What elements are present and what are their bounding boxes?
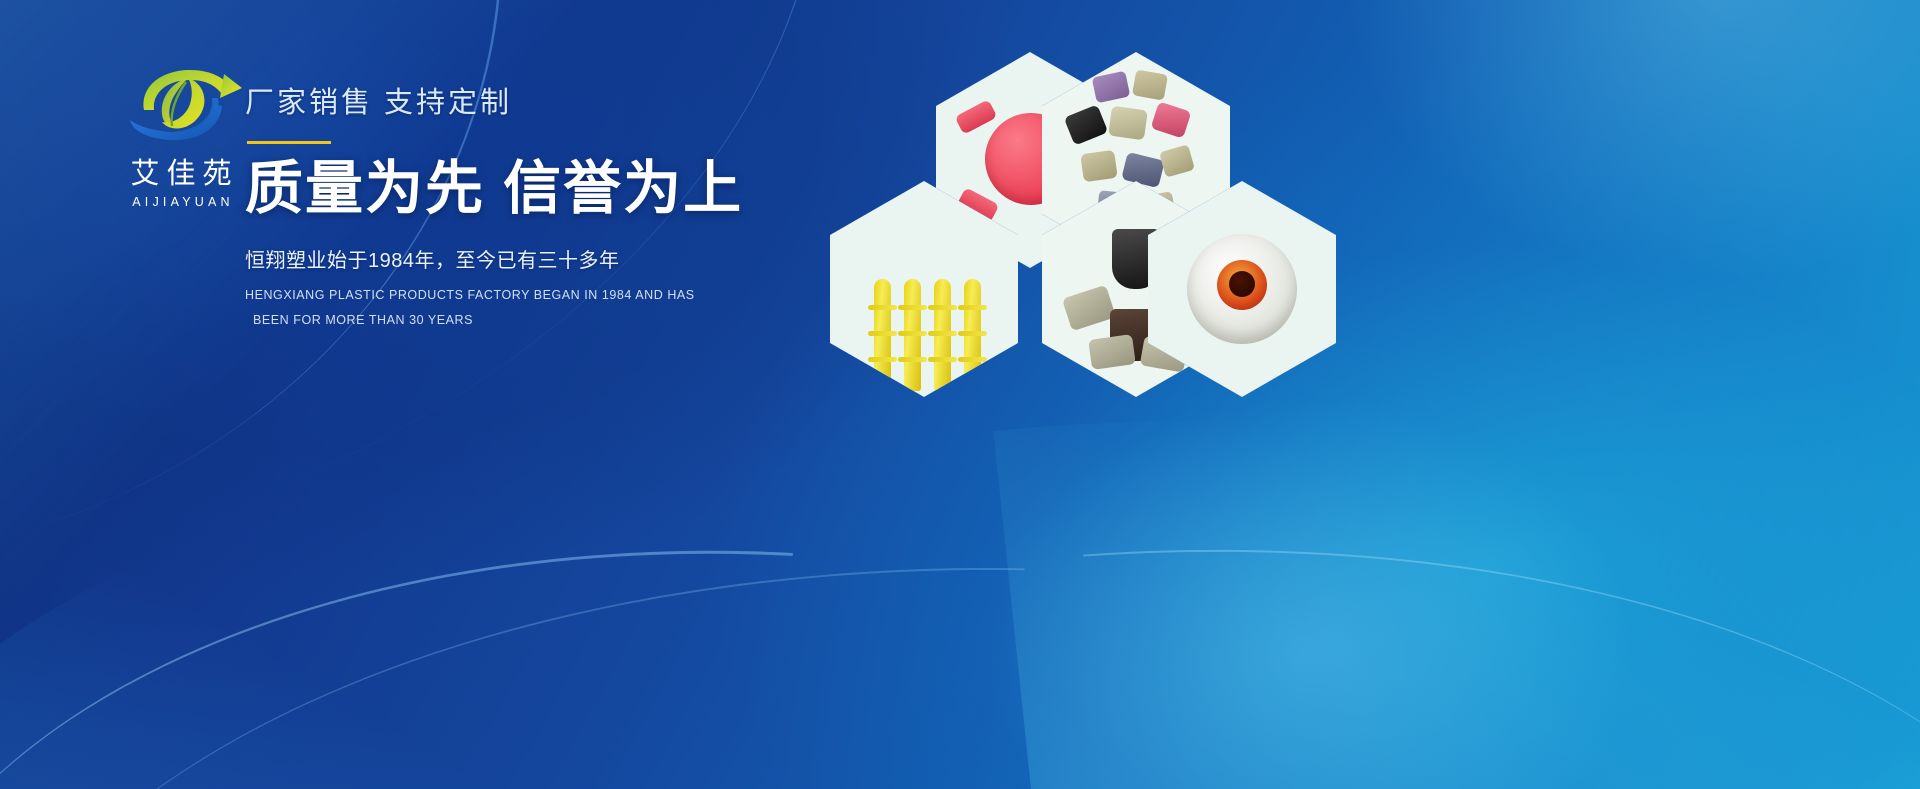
buckle-item — [1092, 71, 1131, 104]
buckle-item — [1151, 101, 1192, 138]
buckle-item — [1132, 69, 1168, 100]
gold-divider — [247, 141, 331, 144]
promotional-banner: 艾佳苑 AIJIAYUAN 厂家销售 支持定制 质量为先 信誉为上 恒翔塑业始于… — [0, 0, 1920, 789]
yellow-anchor — [874, 279, 891, 391]
clip-item — [1088, 334, 1136, 370]
light-streak-bottom-right — [1083, 485, 1920, 789]
buckle-item — [1159, 144, 1195, 177]
yellow-anchor — [934, 279, 951, 391]
wave-bottom-left — [0, 359, 777, 789]
yellow-anchor — [964, 279, 981, 391]
light-streak-bottom-1 — [0, 506, 793, 789]
buckle-item — [1080, 150, 1118, 182]
buckle-item — [1121, 152, 1165, 188]
leaf-swoosh-logo-icon — [106, 58, 256, 154]
buckle-item — [1108, 106, 1148, 141]
lamp-holder-art — [1187, 234, 1297, 344]
yellow-anchor — [904, 279, 921, 391]
junction-arm — [955, 99, 998, 134]
buckle-item — [1064, 104, 1109, 145]
product-hexagon-gallery — [800, 52, 1330, 397]
lamp-socket — [1217, 260, 1267, 310]
wave-bottom-left-dark — [0, 529, 420, 789]
light-streak-bottom-2 — [0, 550, 1025, 789]
clip-item — [1062, 285, 1116, 332]
